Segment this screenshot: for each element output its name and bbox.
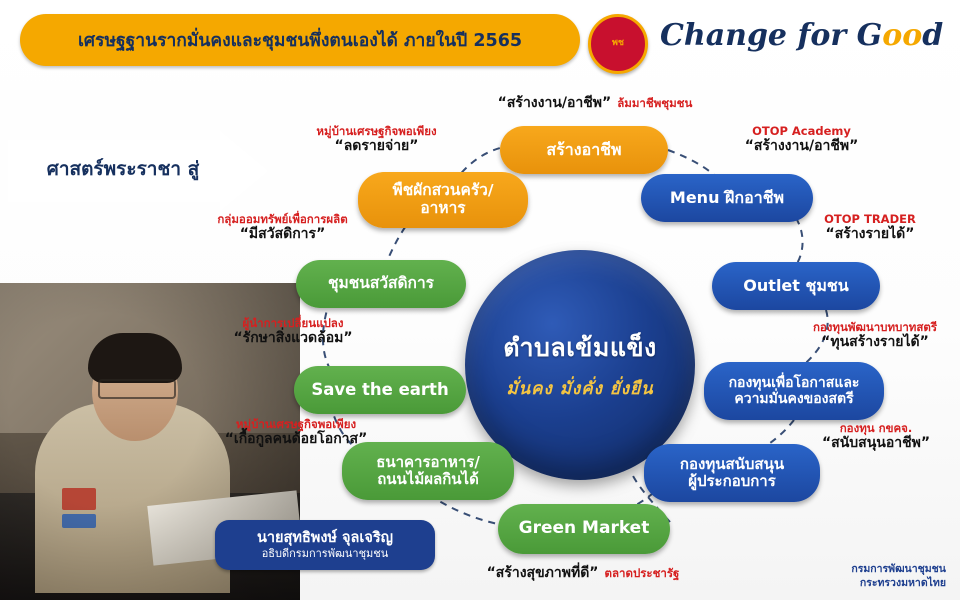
cdd-emblem-inner: พช [600,26,636,62]
node-chumchon-sawat-label: ชุมชนสวัสดิการ [328,275,434,293]
ann-sang-ngan-top-row: “สร้างงาน/อาชีพ”ล้มมาชีพชุมชน [460,92,730,113]
ann-poonam-quote: “รักษาสิ่งแวดล้อม” [198,330,388,348]
node-save-earth[interactable]: Save the earth [294,366,466,414]
ann-kongtun-bot-quote: “ทุนสร้างรายได้” [790,334,960,352]
node-kongtun-sanub[interactable]: กองทุนสนับสนุนผู้ประกอบการ [644,444,820,502]
ann-otop-trader-quote: “สร้างรายได้” [790,226,950,244]
node-menu-label: Menu ฝึกอาชีพ [670,189,784,208]
banner-title: เศรษฐฐานรากมั่นคงและชุมชนพึ่งตนเองได้ ภา… [78,26,522,54]
node-pak-suan-krua[interactable]: พืชผักสวนครัว/อาหาร [358,172,528,228]
node-save-earth-label: Save the earth [311,380,448,399]
node-green-market-label: Green Market [519,519,650,539]
cdd-emblem-label: พช [612,39,624,48]
ann-otop-academy-red-label: OTOP Academy [714,124,889,138]
node-kongtun-okat-label: กองทุนเพื่อโอกาสและความมั่นคงของสตรี [729,375,860,407]
node-menu[interactable]: Menu ฝึกอาชีพ [641,174,813,222]
footer-line-1: กรมการพัฒนาชุมชน [851,562,946,576]
cdd-emblem-icon: พช [588,14,648,74]
node-pak-suan-krua-label: พืชผักสวนครัว/อาหาร [392,182,493,218]
right-arrow-icon: ศาสตร์พระราชา สู่ [8,140,278,202]
ann-om-sap-red-label: กลุ่มออมทรัพย์เพื่อการผลิต [190,212,375,226]
header-banner: เศรษฐฐานรากมั่นคงและชุมชนพึ่งตนเองได้ ภา… [20,14,580,66]
node-sang-arch-label: สร้างอาชีพ [546,141,621,160]
node-thanakarn[interactable]: ธนาคารอาหาร/ถนนไม้ผลกินได้ [342,442,514,500]
ann-kongtun-kokjo-quote: “สนับสนุนอาชีพ” [796,435,956,453]
ann-green-bottom-red-label: ตลาดประชารัฐ [605,566,680,580]
ann-kongtun-kokjo: กองทุน กขคจ.“สนับสนุนอาชีพ” [796,421,956,453]
footer-credit: กรมการพัฒนาชุมชน กระทรวงมหาดไทย [851,562,946,590]
ann-otop-academy-quote: “สร้างงาน/อาชีพ” [714,138,889,156]
slogan-part-1: Change for G [660,18,882,53]
ann-om-sap-quote: “มีสวัสดิการ” [190,226,375,244]
nameplate-name: นายสุทธิพงษ์ จุลเจริญ [257,530,393,547]
ann-sang-ngan-top-red-label: ล้มมาชีพชุมชน [617,96,692,110]
ann-otop-academy: OTOP Academy“สร้างงาน/อาชีพ” [714,124,889,156]
nameplate-position: อธิบดีกรมการพัฒนาชุมชน [262,547,389,560]
node-kongtun-okat[interactable]: กองทุนเพื่อโอกาสและความมั่นคงของสตรี [704,362,884,420]
ann-om-sap: กลุ่มออมทรัพย์เพื่อการผลิต“มีสวัสดิการ” [190,212,375,244]
ann-green-bottom-row: “สร้างสุขภาพที่ดี”ตลาดประชารัฐ [438,562,728,583]
ann-green-bottom: “สร้างสุขภาพที่ดี”ตลาดประชารัฐ [438,562,728,583]
node-green-market[interactable]: Green Market [498,504,670,554]
ann-mooban-porpeang: หมู่บ้านเศรษฐกิจพอเพียง“ลดรายจ่าย” [284,124,469,156]
node-outlet-label: Outlet ชุมชน [743,277,848,296]
ann-kongtun-kokjo-red-label: กองทุน กขคจ. [796,421,956,435]
footer-line-2: กระทรวงมหาดไทย [851,576,946,590]
ann-poonam: ผู้นำการเปลี่ยนแปลง“รักษาสิ่งแวดล้อม” [198,316,388,348]
ann-poonam-red-label: ผู้นำการเปลี่ยนแปลง [198,316,388,330]
ann-otop-trader: OTOP TRADER“สร้างรายได้” [790,212,950,244]
ann-mooban-porpeang-quote: “ลดรายจ่าย” [284,138,469,156]
center-subtitle: มั่นคง มั่งคั่ง ยั่งยืน [506,375,653,402]
node-outlet[interactable]: Outlet ชุมชน [712,262,880,310]
slogan-part-oo: oo [882,18,922,53]
ann-sang-ngan-top: “สร้างงาน/อาชีพ”ล้มมาชีพชุมชน [460,92,730,113]
ann-mooban-2: หมู่บ้านเศรษฐกิจพอเพียง“เกื้อกูลคนด้อยโอ… [196,417,396,449]
ann-kongtun-bot-red-label: กองทุนพัฒนาบทบาทสตรี [790,320,960,334]
ann-mooban-porpeang-red-label: หมู่บ้านเศรษฐกิจพอเพียง [284,124,469,138]
node-sang-arch[interactable]: สร้างอาชีพ [500,126,668,174]
ann-mooban-2-red-label: หมู่บ้านเศรษฐกิจพอเพียง [196,417,396,431]
ann-kongtun-bot: กองทุนพัฒนาบทบาทสตรี“ทุนสร้างรายได้” [790,320,960,352]
ann-green-bottom-quote: “สร้างสุขภาพที่ดี” [487,565,599,581]
node-chumchon-sawat[interactable]: ชุมชนสวัสดิการ [296,260,466,308]
slogan-change-for-good: Change for Good [660,18,943,53]
node-kongtun-sanub-label: กองทุนสนับสนุนผู้ประกอบการ [680,456,784,491]
nameplate: นายสุทธิพงษ์ จุลเจริญ อธิบดีกรมการพัฒนาช… [215,520,435,570]
ann-otop-trader-red-label: OTOP TRADER [790,212,950,226]
arrow-label: ศาสตร์พระราชา สู่ [18,154,228,184]
slogan-part-2: d [922,18,943,53]
node-thanakarn-label: ธนาคารอาหาร/ถนนไม้ผลกินได้ [376,454,480,489]
poster-canvas: เศรษฐฐานรากมั่นคงและชุมชนพึ่งตนเองได้ ภา… [0,0,960,600]
center-title: ตำบลเข้มแข็ง [503,328,657,368]
ann-sang-ngan-top-quote: “สร้างงาน/อาชีพ” [498,95,612,111]
ann-mooban-2-quote: “เกื้อกูลคนด้อยโอกาส” [196,431,396,449]
